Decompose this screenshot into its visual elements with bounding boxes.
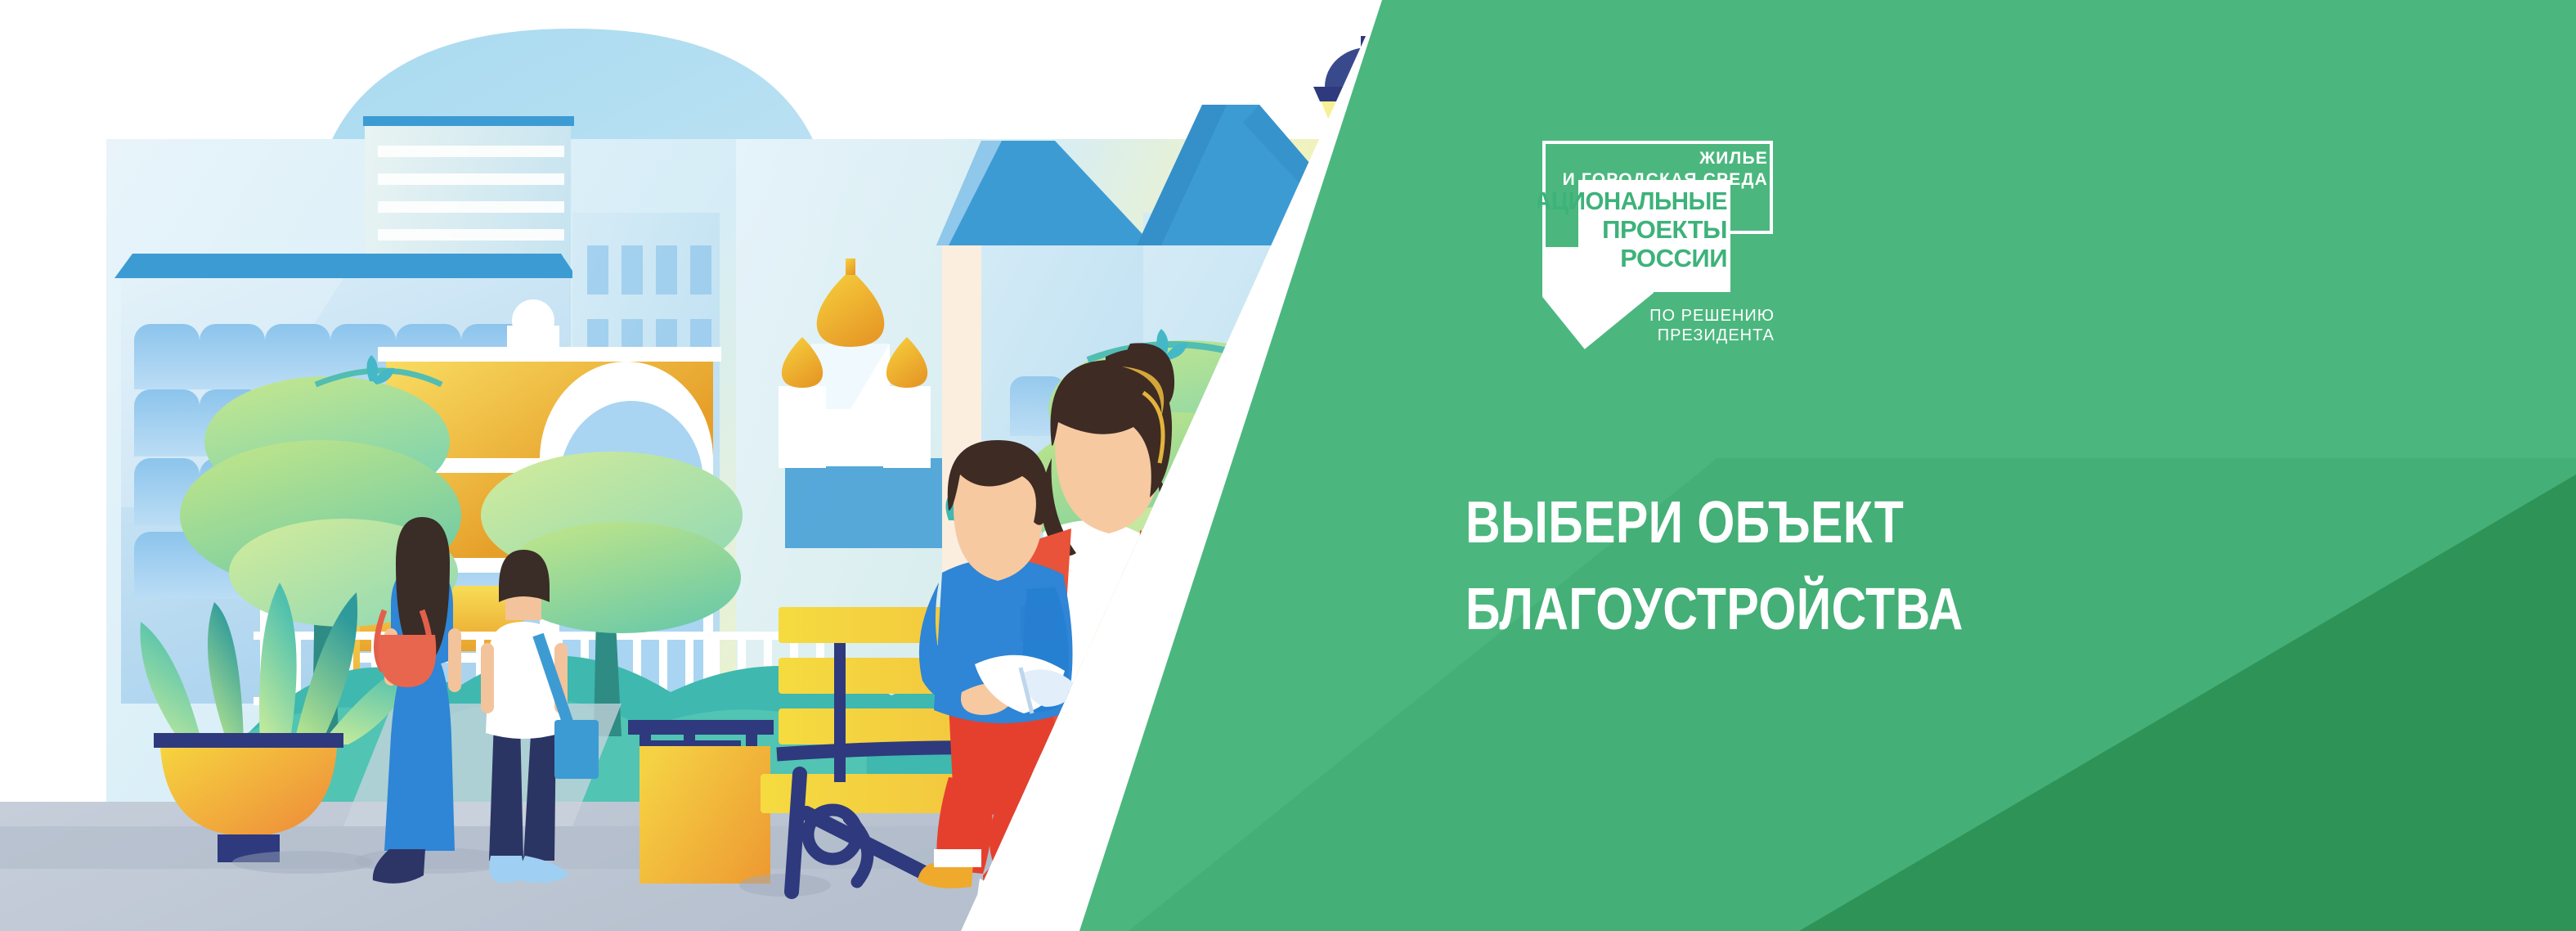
logo-sub-line-2: ПРЕЗИДЕНТА bbox=[1658, 326, 1775, 344]
logo-top-line-1: ЖИЛЬЕ bbox=[1699, 149, 1768, 168]
national-projects-logo: ЖИЛЬЕ И ГОРОДСКАЯ СРЕДА НАЦИОНАЛЬНЫЕ ПРО… bbox=[1537, 124, 1799, 362]
logo-top-line-2: И ГОРОДСКАЯ СРЕДА bbox=[1563, 170, 1768, 189]
headline-line-1: ВЫБЕРИ ОБЪЕКТ bbox=[1465, 479, 2203, 566]
logo-main-line-1: НАЦИОНАЛЬНЫЕ bbox=[1537, 187, 1727, 215]
green-panel bbox=[1079, 0, 2576, 931]
logo-main-line-3: РОССИИ bbox=[1620, 244, 1727, 272]
banner-headline: ВЫБЕРИ ОБЪЕКТ БЛАГОУСТРОЙСТВА bbox=[1465, 479, 2203, 653]
logo-main-line-2: ПРОЕКТЫ bbox=[1602, 215, 1727, 244]
logo-sub-line-1: ПО РЕШЕНИЮ bbox=[1649, 307, 1775, 325]
promo-banner: ЖИЛЬЕ И ГОРОДСКАЯ СРЕДА НАЦИОНАЛЬНЫЕ ПРО… bbox=[0, 0, 2576, 931]
headline-line-2: БЛАГОУСТРОЙСТВА bbox=[1465, 566, 2203, 653]
